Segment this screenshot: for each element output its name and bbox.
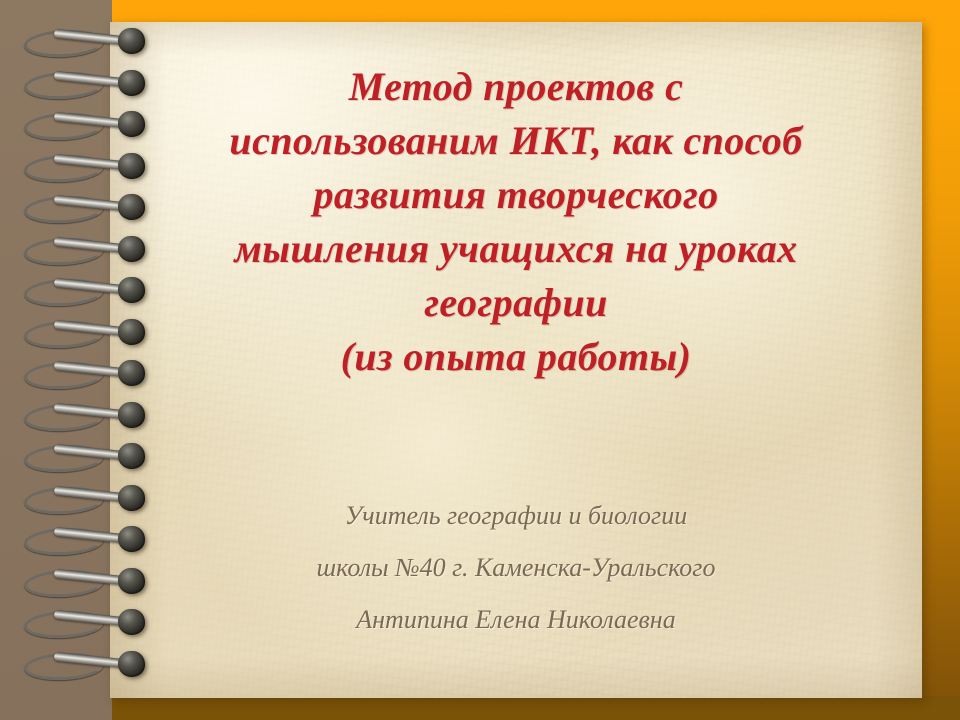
title-line-2: использованим ИКТ, как способ [116, 114, 916, 168]
title-line-1: Метод проектов с [116, 60, 916, 114]
page-title: Метод проектов с использованим ИКТ, как … [116, 60, 916, 384]
title-line-5: географии [116, 276, 916, 330]
title-line-6: (из опыта работы) [116, 330, 916, 384]
left-background-band [0, 0, 112, 720]
bottom-olive-band [112, 696, 960, 720]
slide-content: Метод проектов с использованим ИКТ, как … [110, 22, 922, 698]
author-byline: Учитель географии и биологии школы №40 г… [116, 490, 916, 646]
presentation-title-slide: Метод проектов с использованим ИКТ, как … [0, 0, 960, 720]
title-line-3: развития творческого [116, 168, 916, 222]
byline-line-3: Антипина Елена Николаевна [116, 594, 916, 646]
byline-line-2: школы №40 г. Каменска-Уральского [116, 542, 916, 594]
byline-line-1: Учитель географии и биологии [116, 490, 916, 542]
title-line-4: мышления учащихся на уроках [116, 222, 916, 276]
